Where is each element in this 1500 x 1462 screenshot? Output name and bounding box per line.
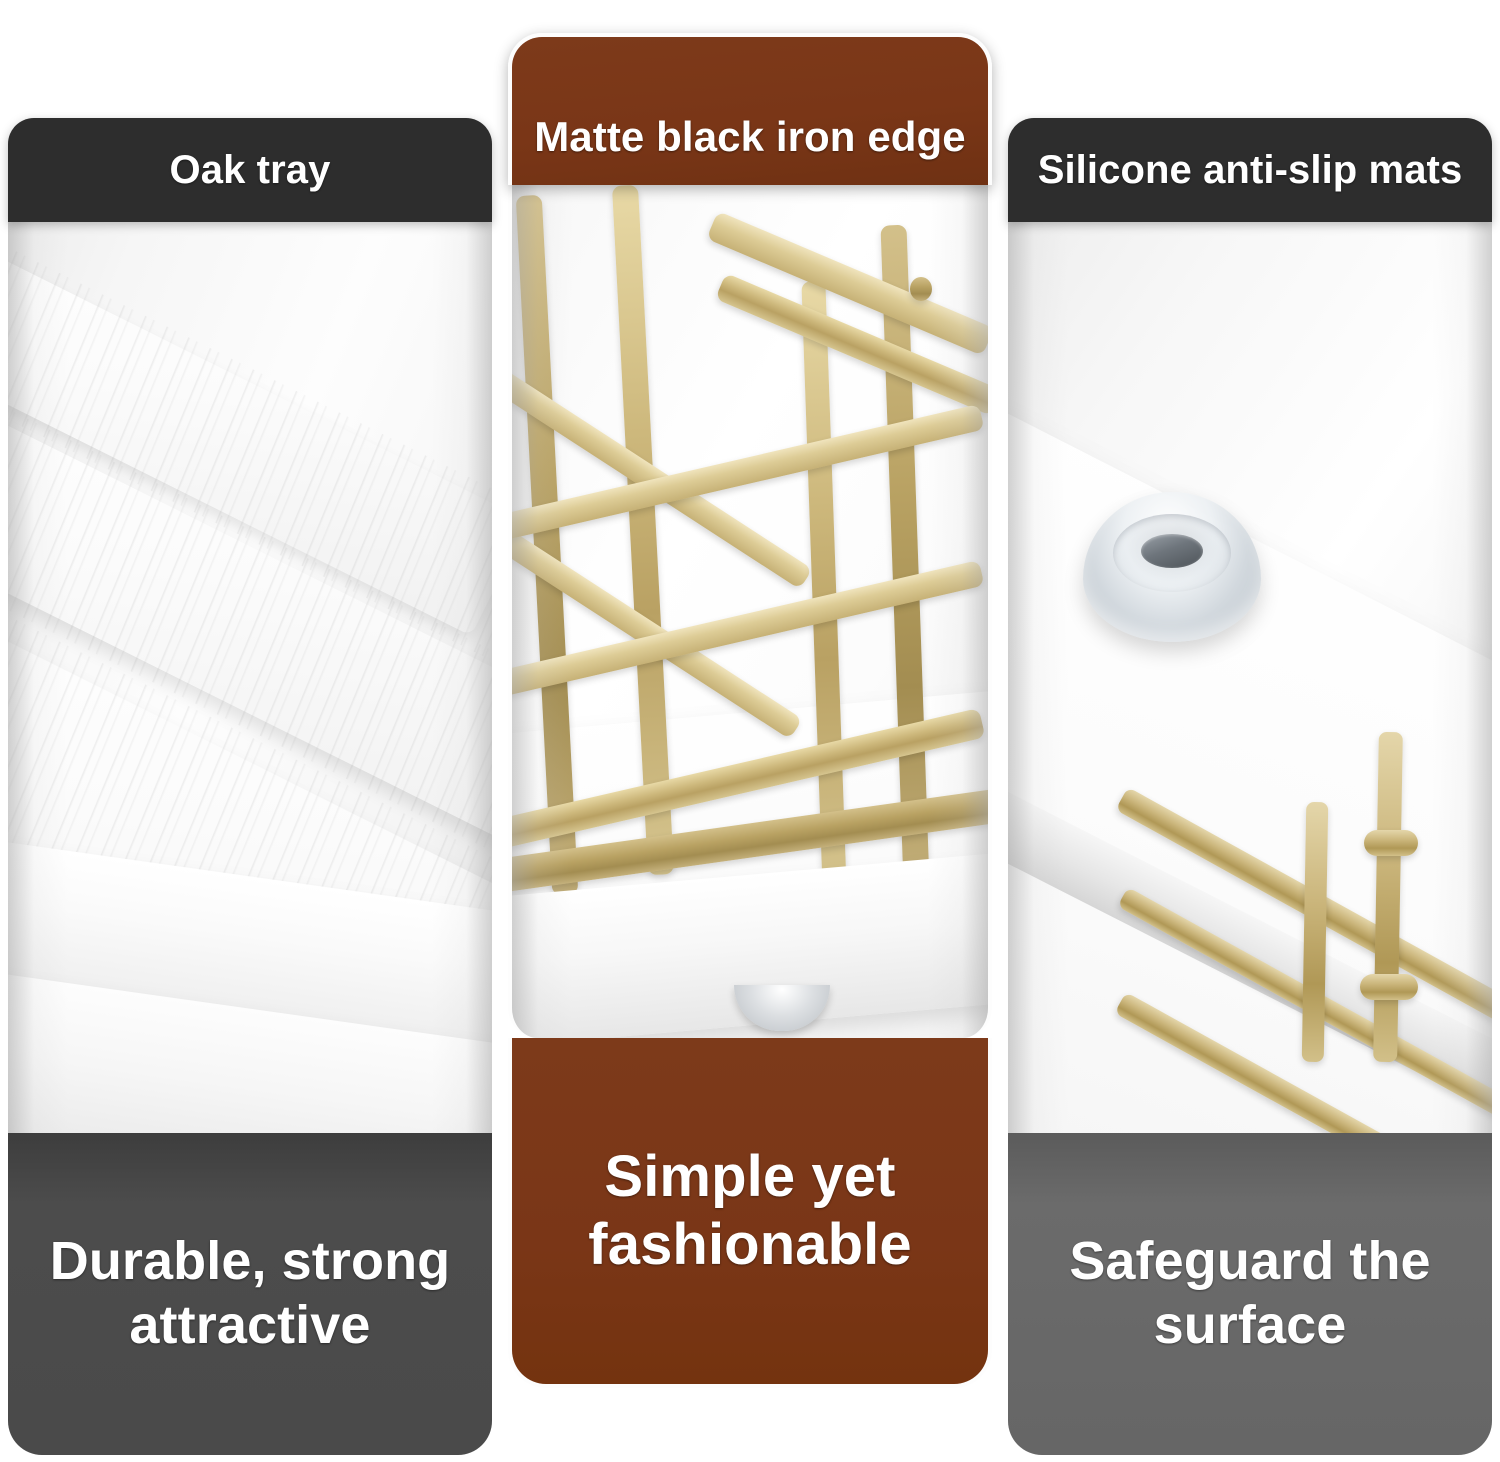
feature-grid: Oak tray Durable, strong attractive <box>0 0 1500 1462</box>
caption-mid-line1: Simple yet <box>604 1144 895 1209</box>
panel-iron-edge: Matte black iron edge Simple yet fashion… <box>500 0 1000 1462</box>
caption-right-line2: surface <box>1154 1295 1347 1355</box>
header-iron-edge-label: Matte black iron edge <box>534 113 966 161</box>
caption-durable-strong-attractive: Durable, strong attractive <box>8 1133 492 1455</box>
gold-frame-corner-bend <box>1364 830 1418 856</box>
header-oak-tray-label: Oak tray <box>170 148 331 193</box>
photo-anti-slip-mats <box>1008 222 1492 1140</box>
caption-left-line1: Durable, strong <box>50 1231 451 1291</box>
caption-left-line2: attractive <box>129 1295 370 1355</box>
panel-oak-tray: Oak tray Durable, strong attractive <box>0 0 500 1462</box>
caption-safeguard-the-surface: Safeguard the surface <box>1008 1133 1492 1455</box>
header-anti-slip-label: Silicone anti-slip mats <box>1038 148 1463 193</box>
silicone-foot-screw <box>1141 534 1203 568</box>
header-anti-slip-mats: Silicone anti-slip mats <box>1008 118 1492 222</box>
rail-corner-stud <box>910 277 932 301</box>
panel-anti-slip-mats: Silicone anti-slip mats Safeguard the su… <box>1000 0 1500 1462</box>
caption-simple-yet-fashionable: Simple yet fashionable <box>508 1038 992 1388</box>
caption-left-text: Durable, strong attractive <box>50 1230 451 1357</box>
header-iron-edge: Matte black iron edge <box>508 33 992 185</box>
header-oak-tray: Oak tray <box>8 118 492 222</box>
gold-frame-corner-bend-lower <box>1360 974 1418 1000</box>
caption-mid-text: Simple yet fashionable <box>588 1143 911 1280</box>
gold-frame-post-corner <box>1302 802 1329 1062</box>
caption-right-text: Safeguard the surface <box>1069 1230 1430 1357</box>
photo-iron-edge <box>508 185 992 1038</box>
caption-mid-line2: fashionable <box>588 1212 911 1277</box>
caption-right-line1: Safeguard the <box>1069 1231 1430 1291</box>
photo-oak-tray <box>8 222 492 1140</box>
